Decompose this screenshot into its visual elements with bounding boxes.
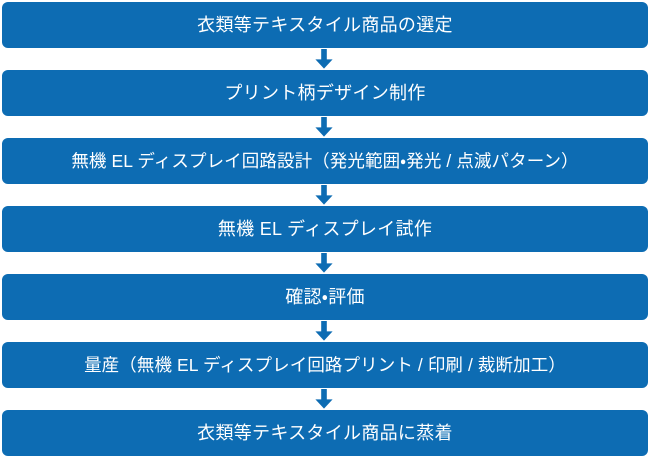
arrow-down-icon: [311, 49, 337, 69]
arrow-down-icon: [311, 185, 337, 205]
flow-step-5-label: 確認・評価: [285, 287, 365, 308]
flow-connector-3-4: [2, 184, 648, 206]
flow-connector-5-6: [2, 320, 648, 342]
arrow-down-icon: [311, 117, 337, 137]
process-flow-diagram: 衣類等テキスタイル商品の選定 プリント柄デザイン制作 無機 EL ディスプレイ回…: [0, 0, 651, 464]
arrow-down-icon: [311, 321, 337, 341]
flow-step-5: 確認・評価: [2, 274, 648, 320]
flow-step-4-label: 無機 EL ディスプレイ試作: [218, 219, 432, 240]
flow-step-6: 量産（無機 EL ディスプレイ回路プリント / 印刷 / 裁断加工）: [2, 342, 648, 388]
flow-connector-4-5: [2, 252, 648, 274]
flow-step-1: 衣類等テキスタイル商品の選定: [2, 2, 648, 48]
flow-step-3-label: 無機 EL ディスプレイ回路設計（発光範囲・発光 / 点滅パターン）: [71, 151, 578, 171]
arrow-down-icon: [311, 389, 337, 409]
flow-connector-2-3: [2, 116, 648, 138]
flow-step-2: プリント柄デザイン制作: [2, 70, 648, 116]
flow-step-7-label: 衣類等テキスタイル商品に蒸着: [197, 423, 453, 444]
flow-step-1-label: 衣類等テキスタイル商品の選定: [197, 15, 453, 36]
flow-step-4: 無機 EL ディスプレイ試作: [2, 206, 648, 252]
flow-step-7: 衣類等テキスタイル商品に蒸着: [2, 410, 648, 456]
flow-connector-6-7: [2, 388, 648, 410]
flow-step-2-label: プリント柄デザイン制作: [224, 83, 425, 104]
flow-step-3: 無機 EL ディスプレイ回路設計（発光範囲・発光 / 点滅パターン）: [2, 138, 648, 184]
arrow-down-icon: [311, 253, 337, 273]
flow-step-6-label: 量産（無機 EL ディスプレイ回路プリント / 印刷 / 裁断加工）: [84, 355, 566, 375]
flow-connector-1-2: [2, 48, 648, 70]
